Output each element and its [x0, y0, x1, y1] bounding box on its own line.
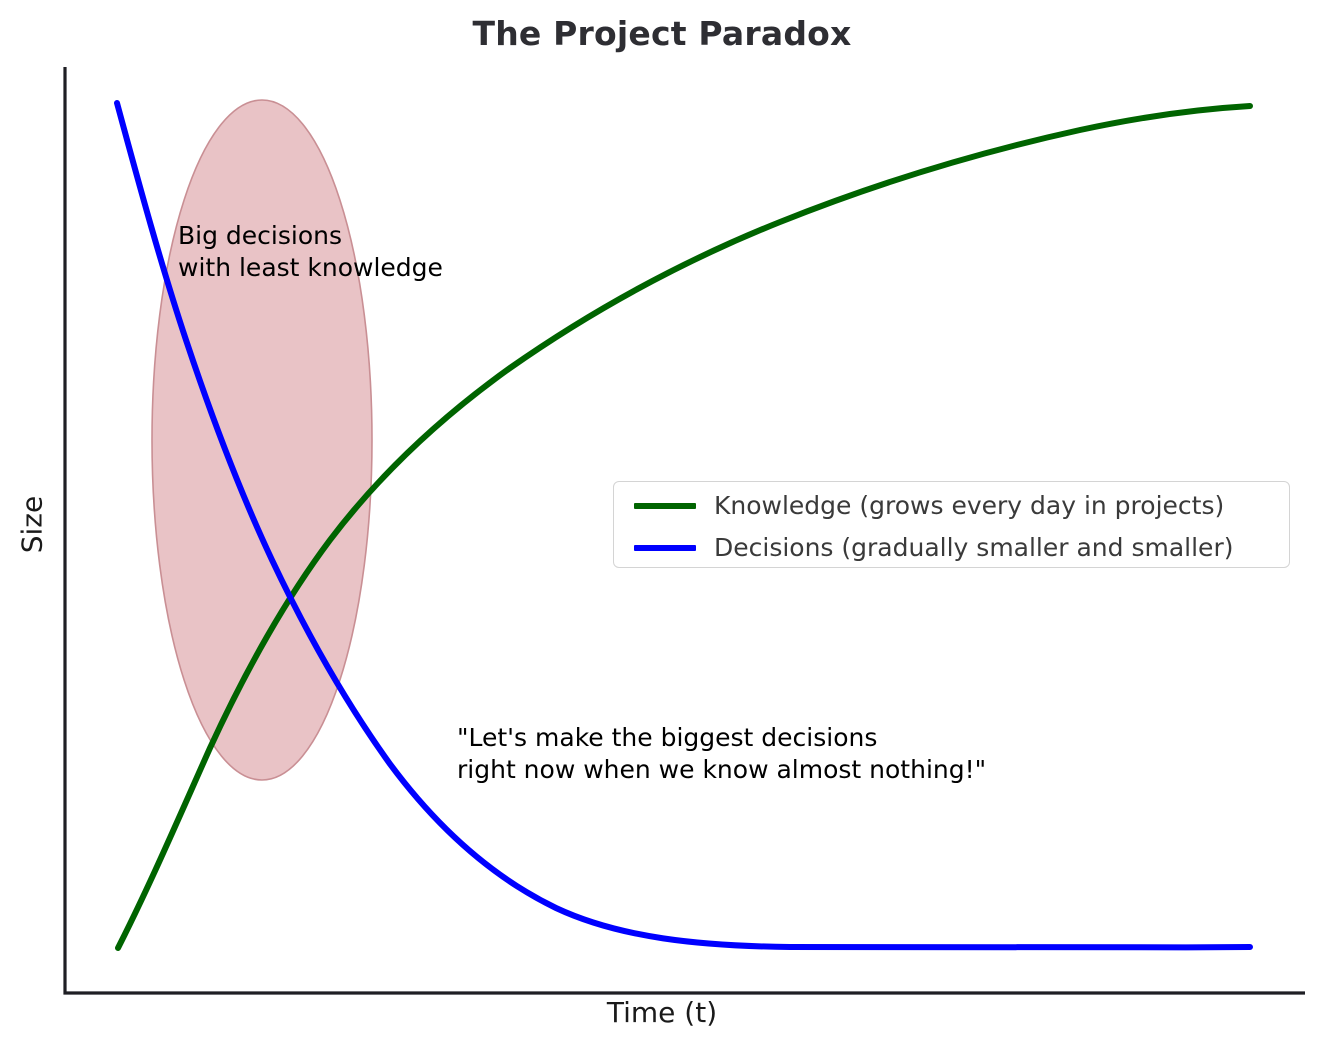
legend-item-knowledge[interactable]: Knowledge (grows every day in projects) [614, 484, 1224, 527]
chart-figure: The Project Paradox Big decisions with l… [0, 0, 1324, 1054]
legend-swatch-decisions [634, 545, 696, 551]
annotation-quote: "Let's make the biggest decisions right … [457, 722, 986, 786]
annotation-big-decisions: Big decisions with least knowledge [178, 220, 443, 284]
highlight-ellipse [152, 100, 372, 780]
x-axis-label: Time (t) [0, 996, 1324, 1029]
legend-label-knowledge: Knowledge (grows every day in projects) [714, 491, 1224, 520]
legend-swatch-knowledge [634, 503, 696, 509]
legend-item-decisions[interactable]: Decisions (gradually smaller and smaller… [614, 526, 1233, 569]
legend-label-decisions: Decisions (gradually smaller and smaller… [714, 533, 1233, 562]
y-axis-label: Size [16, 475, 49, 575]
legend: Knowledge (grows every day in projects) … [613, 481, 1290, 568]
